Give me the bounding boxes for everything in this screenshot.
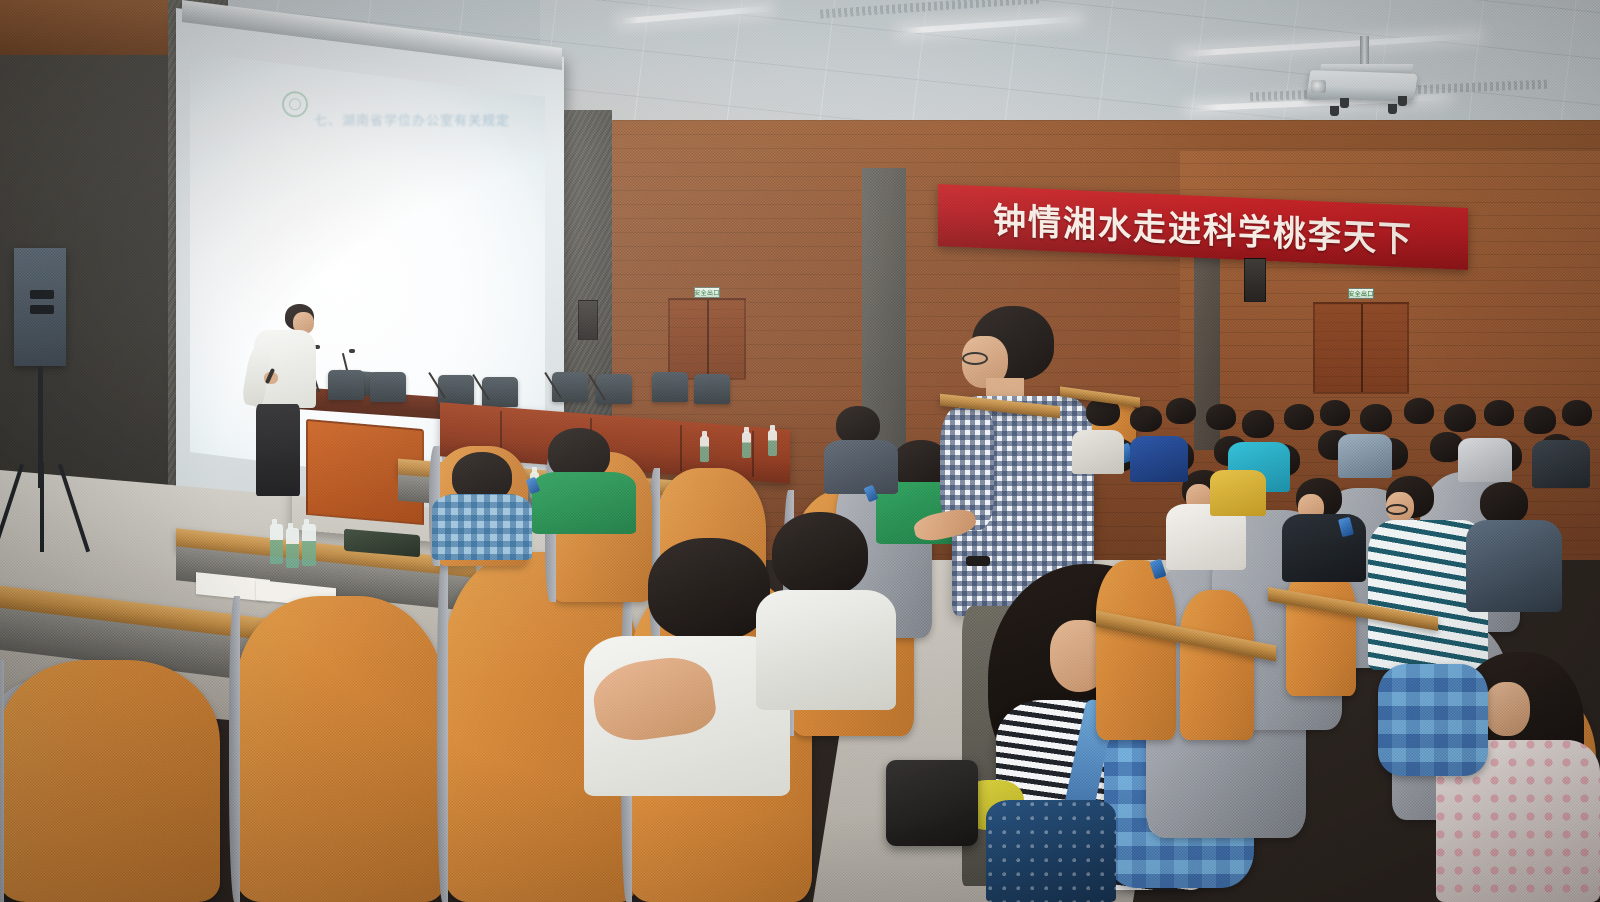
- backpack: [1378, 664, 1488, 776]
- audience-torso: [1282, 514, 1366, 582]
- seat-edge: [0, 660, 4, 902]
- water-bottle-icon: [742, 432, 751, 458]
- audience-head: [1484, 400, 1514, 426]
- audience-head: [1166, 398, 1196, 424]
- pa-speaker-driver: [30, 305, 54, 314]
- seat-edge: [229, 596, 240, 902]
- audience-torso: [1210, 470, 1266, 516]
- projector-foot: [1340, 98, 1349, 108]
- exit-sign-icon: 安全出口: [1348, 288, 1374, 299]
- audience-torso: [1130, 436, 1188, 482]
- audience-face: [1484, 682, 1530, 736]
- audience-torso: [1458, 438, 1512, 482]
- standing-man-watch: [966, 556, 990, 566]
- audience-torso: [1338, 434, 1392, 478]
- student-head: [836, 406, 880, 444]
- university-seal-icon: [282, 91, 308, 117]
- auditorium-seat[interactable]: [0, 660, 220, 902]
- water-bottle-icon: [270, 524, 283, 564]
- stage-chair[interactable]: [652, 372, 688, 402]
- audience-head: [1524, 406, 1556, 434]
- stage-chair[interactable]: [694, 374, 730, 404]
- stage-chair[interactable]: [370, 372, 406, 402]
- audience-torso: [1072, 430, 1124, 474]
- student-torso: [756, 590, 896, 710]
- wall-speaker-icon: [578, 300, 598, 340]
- student-torso: [824, 440, 898, 494]
- exit-sign-right-label: 安全出口: [1348, 289, 1374, 298]
- water-bottle-icon: [302, 524, 316, 566]
- student-torso: [532, 472, 636, 534]
- student-torso: [432, 494, 532, 560]
- exit-door-right[interactable]: [1313, 302, 1409, 394]
- stage-chair[interactable]: [596, 374, 632, 404]
- audience-head: [1320, 400, 1350, 426]
- audience-torso: [1466, 520, 1562, 612]
- exit-door-left[interactable]: [668, 298, 746, 380]
- stage-chair[interactable]: [552, 372, 588, 402]
- audience-head: [1404, 398, 1434, 424]
- glasses-icon: [1386, 504, 1408, 515]
- desk-seam: [680, 425, 682, 471]
- speaker-stand-leg: [40, 462, 44, 552]
- exit-sign-left-label: 安全出口: [694, 288, 720, 297]
- audience-head: [1360, 404, 1392, 432]
- audience-head: [1562, 400, 1592, 426]
- audience-head: [1480, 482, 1528, 524]
- water-bottle-icon: [700, 436, 709, 462]
- audience-head: [1444, 404, 1476, 432]
- audience-head: [1284, 404, 1314, 430]
- audience-torso: [1532, 440, 1590, 488]
- water-bottle-icon: [286, 528, 299, 568]
- student-head: [772, 512, 868, 596]
- lecture-hall-photo: 钟情湘水走进科学桃李天下 安全出口 安全出口 七、湖南省学位办公室有关规定: [0, 0, 1600, 902]
- auditorium-seat[interactable]: [1180, 590, 1254, 740]
- student-head: [648, 538, 770, 640]
- presenter-trousers: [256, 404, 300, 496]
- water-bottle-icon: [768, 430, 777, 456]
- auditorium-seat[interactable]: [236, 596, 446, 902]
- wall-speaker-icon: [1244, 258, 1266, 302]
- glasses-icon: [962, 352, 988, 365]
- exit-sign-icon: 安全出口: [694, 287, 720, 298]
- foreground-student-skirt: [986, 800, 1116, 902]
- projector-foot: [1398, 96, 1407, 106]
- camera-bag: [886, 760, 978, 846]
- stage-chair[interactable]: [328, 370, 364, 400]
- desk-seam: [752, 431, 754, 477]
- slide-title-text: 七、湖南省学位办公室有关规定: [314, 110, 510, 129]
- seat-edge: [437, 552, 448, 902]
- wood-soffit: [0, 0, 180, 60]
- stage-chair[interactable]: [438, 375, 474, 405]
- projector-foot: [1388, 104, 1397, 114]
- audience-head: [1130, 406, 1162, 432]
- projector-foot: [1330, 106, 1339, 116]
- auditorium-seat[interactable]: [1286, 566, 1356, 696]
- stage-chair[interactable]: [482, 377, 518, 407]
- projector-lens-icon: [1311, 80, 1326, 93]
- audience-head: [1242, 410, 1274, 438]
- auditorium-seat[interactable]: [1096, 560, 1176, 740]
- microphone-head-icon: [349, 349, 355, 353]
- audience-head: [1206, 404, 1236, 430]
- pa-speaker-driver: [30, 290, 54, 299]
